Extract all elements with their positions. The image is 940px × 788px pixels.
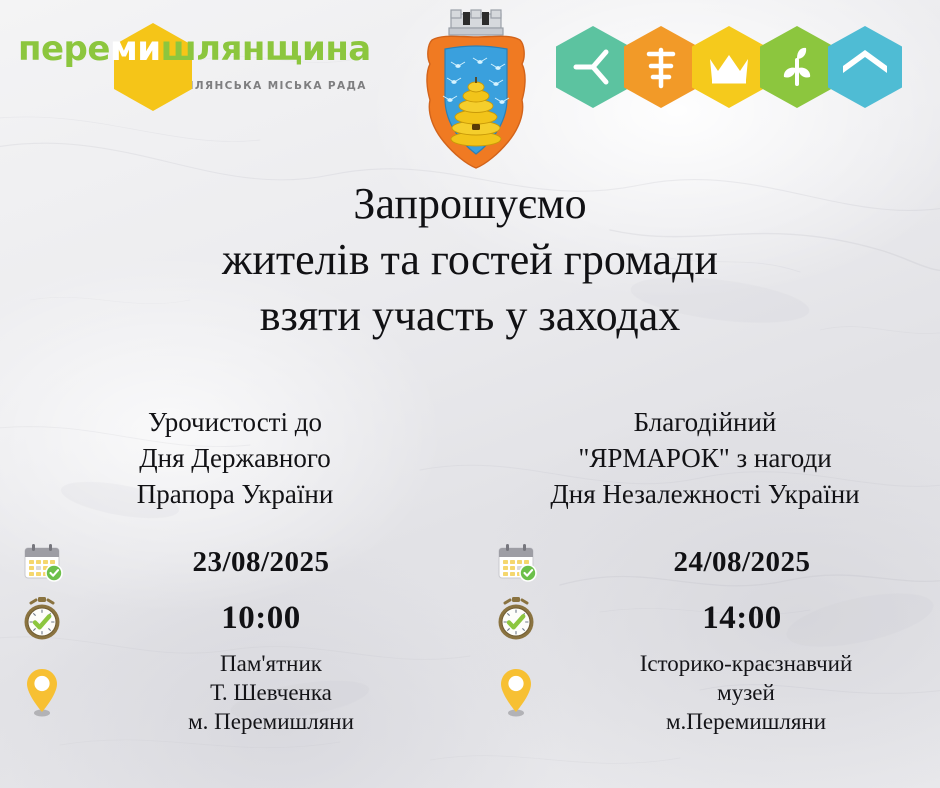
event-date-row: 24/08/2025 [480, 537, 940, 589]
event-date-value: 24/08/2025 [673, 546, 810, 578]
events-container: Урочистості до Дня Державного Прапора Ук… [0, 404, 940, 736]
hex-chevron [828, 26, 902, 108]
event-title: Урочистості до Дня Державного Прапора Ук… [137, 404, 334, 513]
event-date-text: 24/08/2025 [552, 546, 940, 579]
event-title-line-3: Дня Незалежності України [550, 476, 859, 512]
event-title-line-2: Дня Державного [137, 440, 334, 476]
crown-icon [706, 47, 752, 87]
event-place-line-2: Т. Шевченка [78, 678, 464, 707]
event-card-flag-day: Урочистості до Дня Державного Прапора Ук… [0, 404, 470, 736]
event-place-line-1: Історико-краєзнавчий [552, 649, 940, 678]
event-title-line-2: "ЯРМАРОК" з нагоди [550, 440, 859, 476]
event-place-row: Пам'ятник Т. Шевченка м. Перемишляни [6, 649, 470, 737]
event-date-text: 23/08/2025 [78, 546, 470, 579]
sprout-icon [776, 44, 818, 90]
headline-line-3: взяти участь у заходах [0, 288, 940, 344]
hex-crown [692, 26, 766, 108]
event-date-row: 23/08/2025 [6, 537, 470, 589]
logo-text-part1: пере [18, 29, 110, 69]
event-card-charity-fair: Благодійний "ЯРМАРОК" з нагоди Дня Незал… [470, 404, 940, 736]
calendar-check-icon [6, 542, 78, 584]
event-place-line-2: музей [552, 678, 940, 707]
event-date-value: 23/08/2025 [192, 546, 329, 578]
logo-text-part2: шлянщина [161, 29, 371, 69]
hex-branch [556, 26, 630, 108]
event-title: Благодійний "ЯРМАРОК" з нагоди Дня Незал… [550, 404, 859, 513]
event-time-row: 14:00 [480, 589, 940, 649]
event-time-text: 14:00 [552, 600, 940, 637]
hex-tree [624, 26, 698, 108]
map-pin-icon [6, 665, 78, 719]
event-place-text: Пам'ятник Т. Шевченка м. Перемишляни [78, 649, 470, 737]
poster-header: перемишлянщина ПЕРЕМИШЛЯНСЬКА МІСЬКА РАД… [0, 0, 940, 185]
logo-subtitle: ПЕРЕМИШЛЯНСЬКА МІСЬКА РАДА [18, 80, 378, 92]
event-details: 23/08/2025 [0, 537, 470, 737]
event-place-line-3: м.Перемишляни [552, 707, 940, 736]
branch-icon [570, 44, 616, 90]
coat-of-arms-icon [418, 4, 534, 172]
poster-canvas: перемишлянщина ПЕРЕМИШЛЯНСЬКА МІСЬКА РАД… [0, 0, 940, 788]
page-title: Запрошуємо жителів та гостей громади взя… [0, 176, 940, 344]
event-place-text: Історико-краєзнавчий музей м.Перемишляни [552, 649, 940, 737]
logo-wordmark: перемишлянщина [18, 26, 378, 72]
event-place-line-1: Пам'ятник [78, 649, 464, 678]
event-time-value: 10:00 [221, 600, 301, 636]
community-logo: перемишлянщина ПЕРЕМИШЛЯНСЬКА МІСЬКА РАД… [18, 26, 378, 92]
stopwatch-check-icon [6, 595, 78, 643]
chevron-icon [841, 46, 889, 88]
map-pin-icon [480, 665, 552, 719]
event-title-line-1: Урочистості до [137, 404, 334, 440]
mural-crown-icon [449, 10, 503, 35]
headline-line-2: жителів та гостей громади [0, 232, 940, 288]
event-time-value: 14:00 [702, 600, 782, 636]
event-title-line-1: Благодійний [550, 404, 859, 440]
event-time-row: 10:00 [6, 589, 470, 649]
tree-icon [639, 44, 683, 90]
headline-line-1: Запрошуємо [0, 176, 940, 232]
event-place-row: Історико-краєзнавчий музей м.Перемишляни [480, 649, 940, 737]
hex-icon-strip [556, 26, 902, 108]
event-details: 24/08/2025 [470, 537, 940, 737]
stopwatch-check-icon [480, 595, 552, 643]
hex-sprout [760, 26, 834, 108]
event-title-line-3: Прапора України [137, 476, 334, 512]
logo-text-highlight: ми [110, 29, 161, 69]
event-time-text: 10:00 [78, 600, 470, 637]
calendar-check-icon [480, 542, 552, 584]
event-place-line-3: м. Перемишляни [78, 707, 464, 736]
